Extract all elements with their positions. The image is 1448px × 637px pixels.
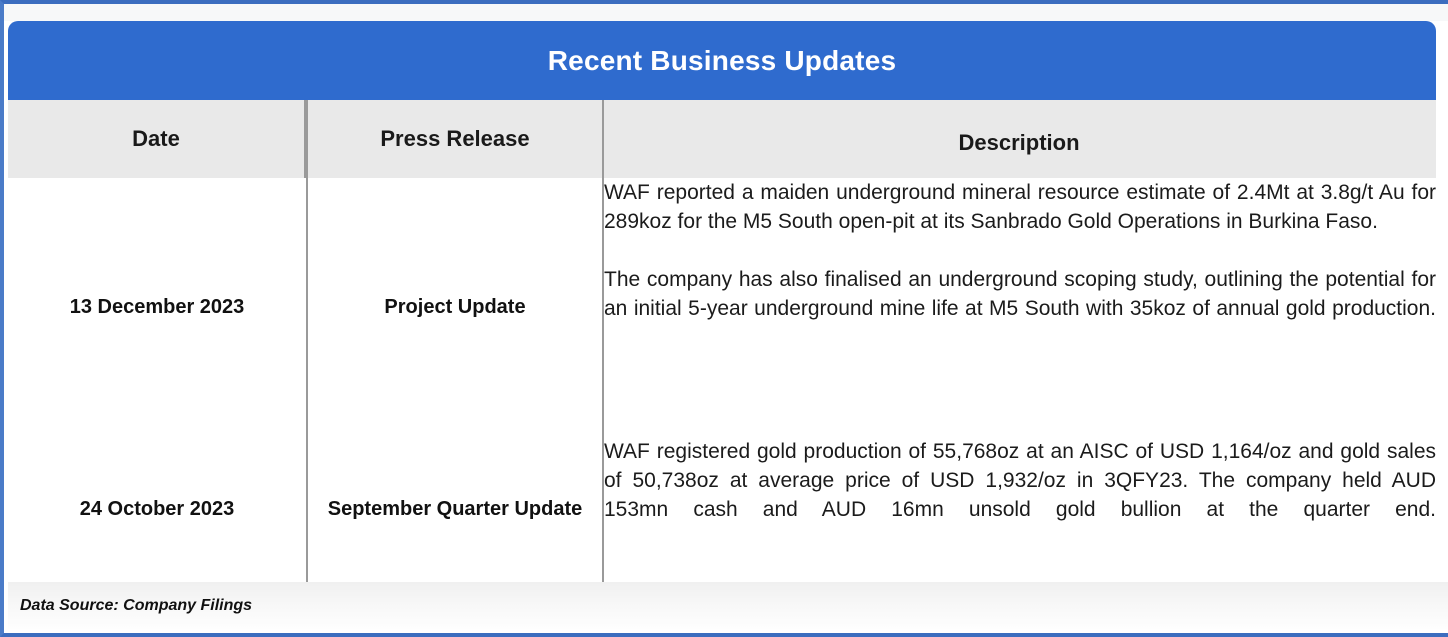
row-description-paragraph: WAF registered gold production of 55,768… — [604, 437, 1436, 553]
updates-table-card: Recent Business Updates Date Press Relea… — [8, 21, 1436, 582]
row-date-value: 24 October 2023 — [80, 495, 235, 524]
cell-date: 13 December 2023 — [8, 178, 306, 437]
cell-press-release: Project Update — [306, 178, 604, 437]
row-press-release-value: Project Update — [384, 293, 525, 322]
column-header-description: Description — [604, 100, 1436, 178]
row-description-paragraph: The company has also finalised an underg… — [604, 265, 1436, 352]
top-gutter — [4, 4, 1448, 21]
cell-date: 24 October 2023 — [8, 437, 306, 582]
table-title-bar: Recent Business Updates — [8, 21, 1436, 100]
table-body: 13 December 2023 Project Update WAF repo… — [8, 178, 1436, 582]
footer-source-strip: Data Source: Company Filings — [8, 582, 1448, 629]
column-header-date: Date — [8, 100, 306, 178]
column-header-press-release-label: Press Release — [380, 123, 529, 155]
row-description-paragraph: WAF reported a maiden underground minera… — [604, 178, 1436, 236]
table-row: 13 December 2023 Project Update WAF repo… — [8, 178, 1436, 437]
cell-press-release: September Quarter Update — [306, 437, 604, 582]
column-header-press-release: Press Release — [306, 100, 604, 178]
data-source-note: Data Source: Company Filings — [20, 597, 252, 615]
page-title: Recent Business Updates — [548, 47, 897, 75]
page-frame: Recent Business Updates Date Press Relea… — [0, 0, 1448, 637]
table-row: 24 October 2023 September Quarter Update… — [8, 437, 1436, 582]
cell-description: WAF reported a maiden underground minera… — [604, 178, 1436, 437]
column-header-description-label: Description — [958, 130, 1079, 156]
row-date-value: 13 December 2023 — [70, 293, 245, 322]
row-press-release-value: September Quarter Update — [328, 495, 583, 524]
cell-description: WAF registered gold production of 55,768… — [604, 437, 1436, 582]
column-header-date-label: Date — [132, 123, 180, 155]
table-column-header-row: Date Press Release Description — [8, 100, 1436, 178]
